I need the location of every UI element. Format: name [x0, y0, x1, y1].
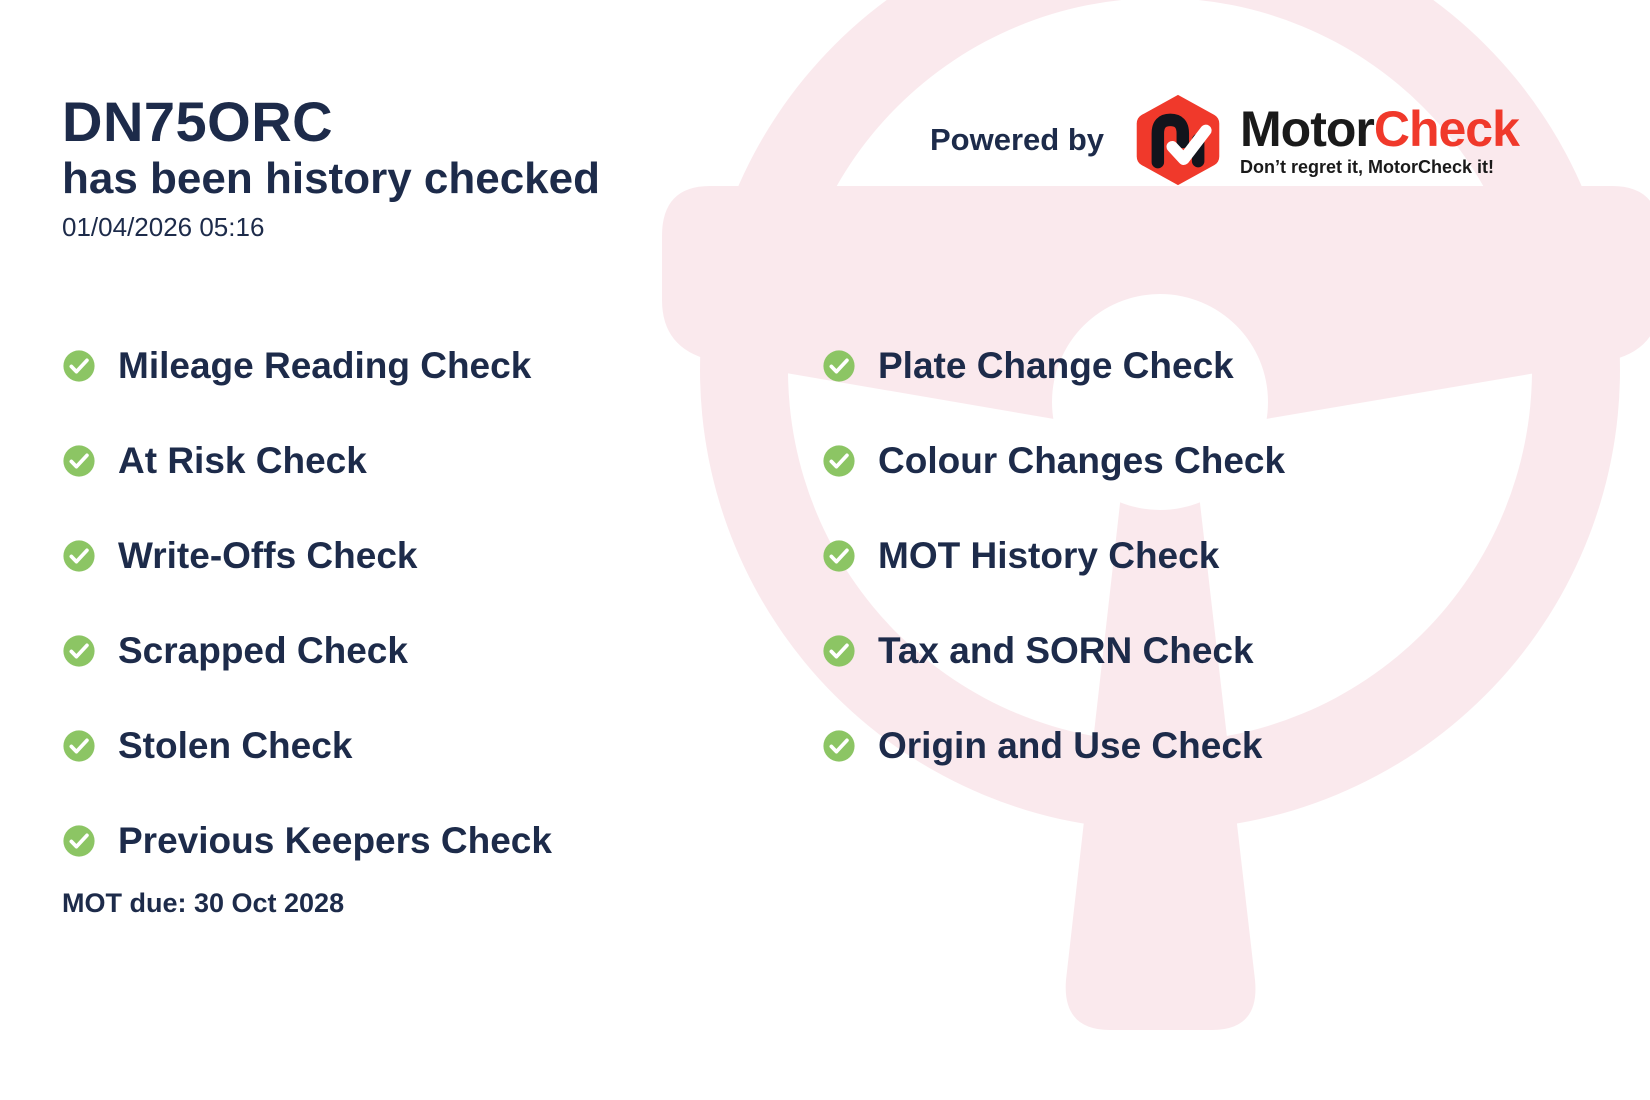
motorcheck-logo[interactable]: MotorCheck Don’t regret it, MotorCheck i…	[1130, 92, 1519, 188]
wordmark-text: MotorCheck	[1240, 104, 1519, 154]
check-item-origin-and-use[interactable]: Origin and Use Check	[822, 698, 1582, 793]
check-item-stolen[interactable]: Stolen Check	[62, 698, 822, 793]
wordmark-check: Check	[1374, 101, 1519, 157]
check-label: Tax and SORN Check	[878, 632, 1254, 669]
check-item-mileage-reading[interactable]: Mileage Reading Check	[62, 318, 822, 413]
check-circle-icon	[822, 444, 856, 478]
check-timestamp: 01/04/2026 05:16	[62, 212, 600, 243]
check-item-write-offs[interactable]: Write-Offs Check	[62, 508, 822, 603]
check-label: MOT History Check	[878, 537, 1219, 574]
check-circle-icon	[62, 824, 96, 858]
powered-by-label: Powered by	[930, 122, 1104, 158]
check-label: Scrapped Check	[118, 632, 408, 669]
check-label: Plate Change Check	[878, 347, 1234, 384]
check-circle-icon	[62, 729, 96, 763]
check-label: Previous Keepers Check	[118, 822, 552, 859]
check-label: At Risk Check	[118, 442, 367, 479]
page-header: DN75ORC has been history checked 01/04/2…	[62, 92, 600, 243]
check-label: Origin and Use Check	[878, 727, 1263, 764]
check-item-at-risk[interactable]: At Risk Check	[62, 413, 822, 508]
check-circle-icon	[822, 634, 856, 668]
check-item-previous-keepers[interactable]: Previous Keepers Check	[62, 793, 822, 888]
check-item-mot-history[interactable]: MOT History Check	[822, 508, 1582, 603]
vehicle-registration: DN75ORC	[62, 92, 600, 152]
motorcheck-wordmark: MotorCheck Don’t regret it, MotorCheck i…	[1240, 104, 1519, 176]
wordmark-motor: Motor	[1240, 101, 1374, 157]
motorcheck-hexagon-logo-icon	[1130, 92, 1226, 188]
powered-by-branding: Powered by MotorCheck Don’t regret it, M…	[930, 92, 1519, 188]
check-item-colour-changes[interactable]: Colour Changes Check	[822, 413, 1582, 508]
check-label: Colour Changes Check	[878, 442, 1285, 479]
checks-left-column: Mileage Reading Check At Risk Check Writ…	[62, 318, 822, 888]
check-item-scrapped[interactable]: Scrapped Check	[62, 603, 822, 698]
check-circle-icon	[822, 729, 856, 763]
check-item-tax-and-sorn[interactable]: Tax and SORN Check	[822, 603, 1582, 698]
checks-grid: Mileage Reading Check At Risk Check Writ…	[62, 318, 1592, 888]
check-label: Stolen Check	[118, 727, 352, 764]
check-circle-icon	[62, 539, 96, 573]
mot-due-date: MOT due: 30 Oct 2028	[62, 888, 344, 919]
check-circle-icon	[822, 349, 856, 383]
check-label: Mileage Reading Check	[118, 347, 531, 384]
check-circle-icon	[62, 444, 96, 478]
check-circle-icon	[62, 634, 96, 668]
check-label: Write-Offs Check	[118, 537, 418, 574]
history-check-card: DN75ORC has been history checked 01/04/2…	[0, 0, 1650, 1100]
checks-right-column: Plate Change Check Colour Changes Check …	[822, 318, 1582, 888]
brand-tagline: Don’t regret it, MotorCheck it!	[1240, 158, 1519, 176]
check-circle-icon	[822, 539, 856, 573]
check-item-plate-change[interactable]: Plate Change Check	[822, 318, 1582, 413]
check-circle-icon	[62, 349, 96, 383]
page-title: has been history checked	[62, 154, 600, 203]
